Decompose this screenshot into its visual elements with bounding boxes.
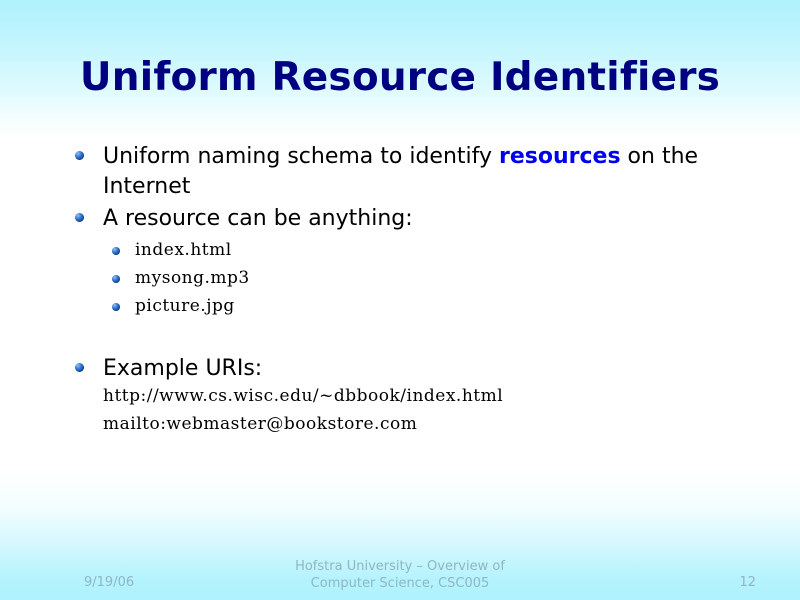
sub-bullet-item-label: mysong.mp3 <box>135 268 250 288</box>
uri-line-1: http://www.cs.wisc.edu/~dbbook/index.htm… <box>70 386 760 406</box>
sphere-bullet-icon <box>75 213 84 222</box>
bullet-1-highlight: resources <box>499 144 621 169</box>
bullet-item-1: Uniform naming schema to identify resour… <box>70 142 760 202</box>
bullet-item-2: A resource can be anything: <box>70 204 760 234</box>
sphere-bullet-icon <box>112 247 120 255</box>
sub-bullet-item-label: index.html <box>135 240 232 260</box>
bullet-1-text-before: Uniform naming schema to identify <box>103 144 499 169</box>
sphere-bullet-icon <box>112 303 120 311</box>
bullet-item-2-label: A resource can be anything: <box>103 204 760 234</box>
sub-bullet-list: index.html mysong.mp3 picture.jpg <box>70 240 760 316</box>
uri-line-2: mailto:webmaster@bookstore.com <box>70 414 760 434</box>
sub-bullet-item: mysong.mp3 <box>70 268 760 288</box>
bullet-item-example-uris: Example URIs: <box>70 354 760 384</box>
slide-body: Uniform naming schema to identify resour… <box>70 142 760 442</box>
bullet-item-example-uris-label: Example URIs: <box>103 354 760 384</box>
slide: Uniform Resource Identifiers Uniform nam… <box>0 0 800 600</box>
slide-footer: 9/19/06 Hofstra University – Overview of… <box>0 548 800 600</box>
uri-text: http://www.cs.wisc.edu/~dbbook/index.htm… <box>103 386 503 406</box>
sub-bullet-item: picture.jpg <box>70 296 760 316</box>
footer-center: Hofstra University – Overview of Compute… <box>0 558 800 592</box>
sphere-bullet-icon <box>75 151 84 160</box>
sub-bullet-item: index.html <box>70 240 760 260</box>
footer-center-line-1: Hofstra University – Overview of <box>0 558 800 575</box>
uri-text: mailto:webmaster@bookstore.com <box>103 414 417 434</box>
sphere-bullet-icon <box>75 363 84 372</box>
footer-center-line-2: Computer Science, CSC005 <box>0 575 800 592</box>
bullet-item-1-label: Uniform naming schema to identify resour… <box>103 142 760 202</box>
body-spacer <box>70 324 760 354</box>
sphere-bullet-icon <box>112 275 120 283</box>
page-title: Uniform Resource Identifiers <box>0 56 800 100</box>
sub-bullet-item-label: picture.jpg <box>135 296 235 316</box>
footer-page-number: 12 <box>739 575 756 590</box>
